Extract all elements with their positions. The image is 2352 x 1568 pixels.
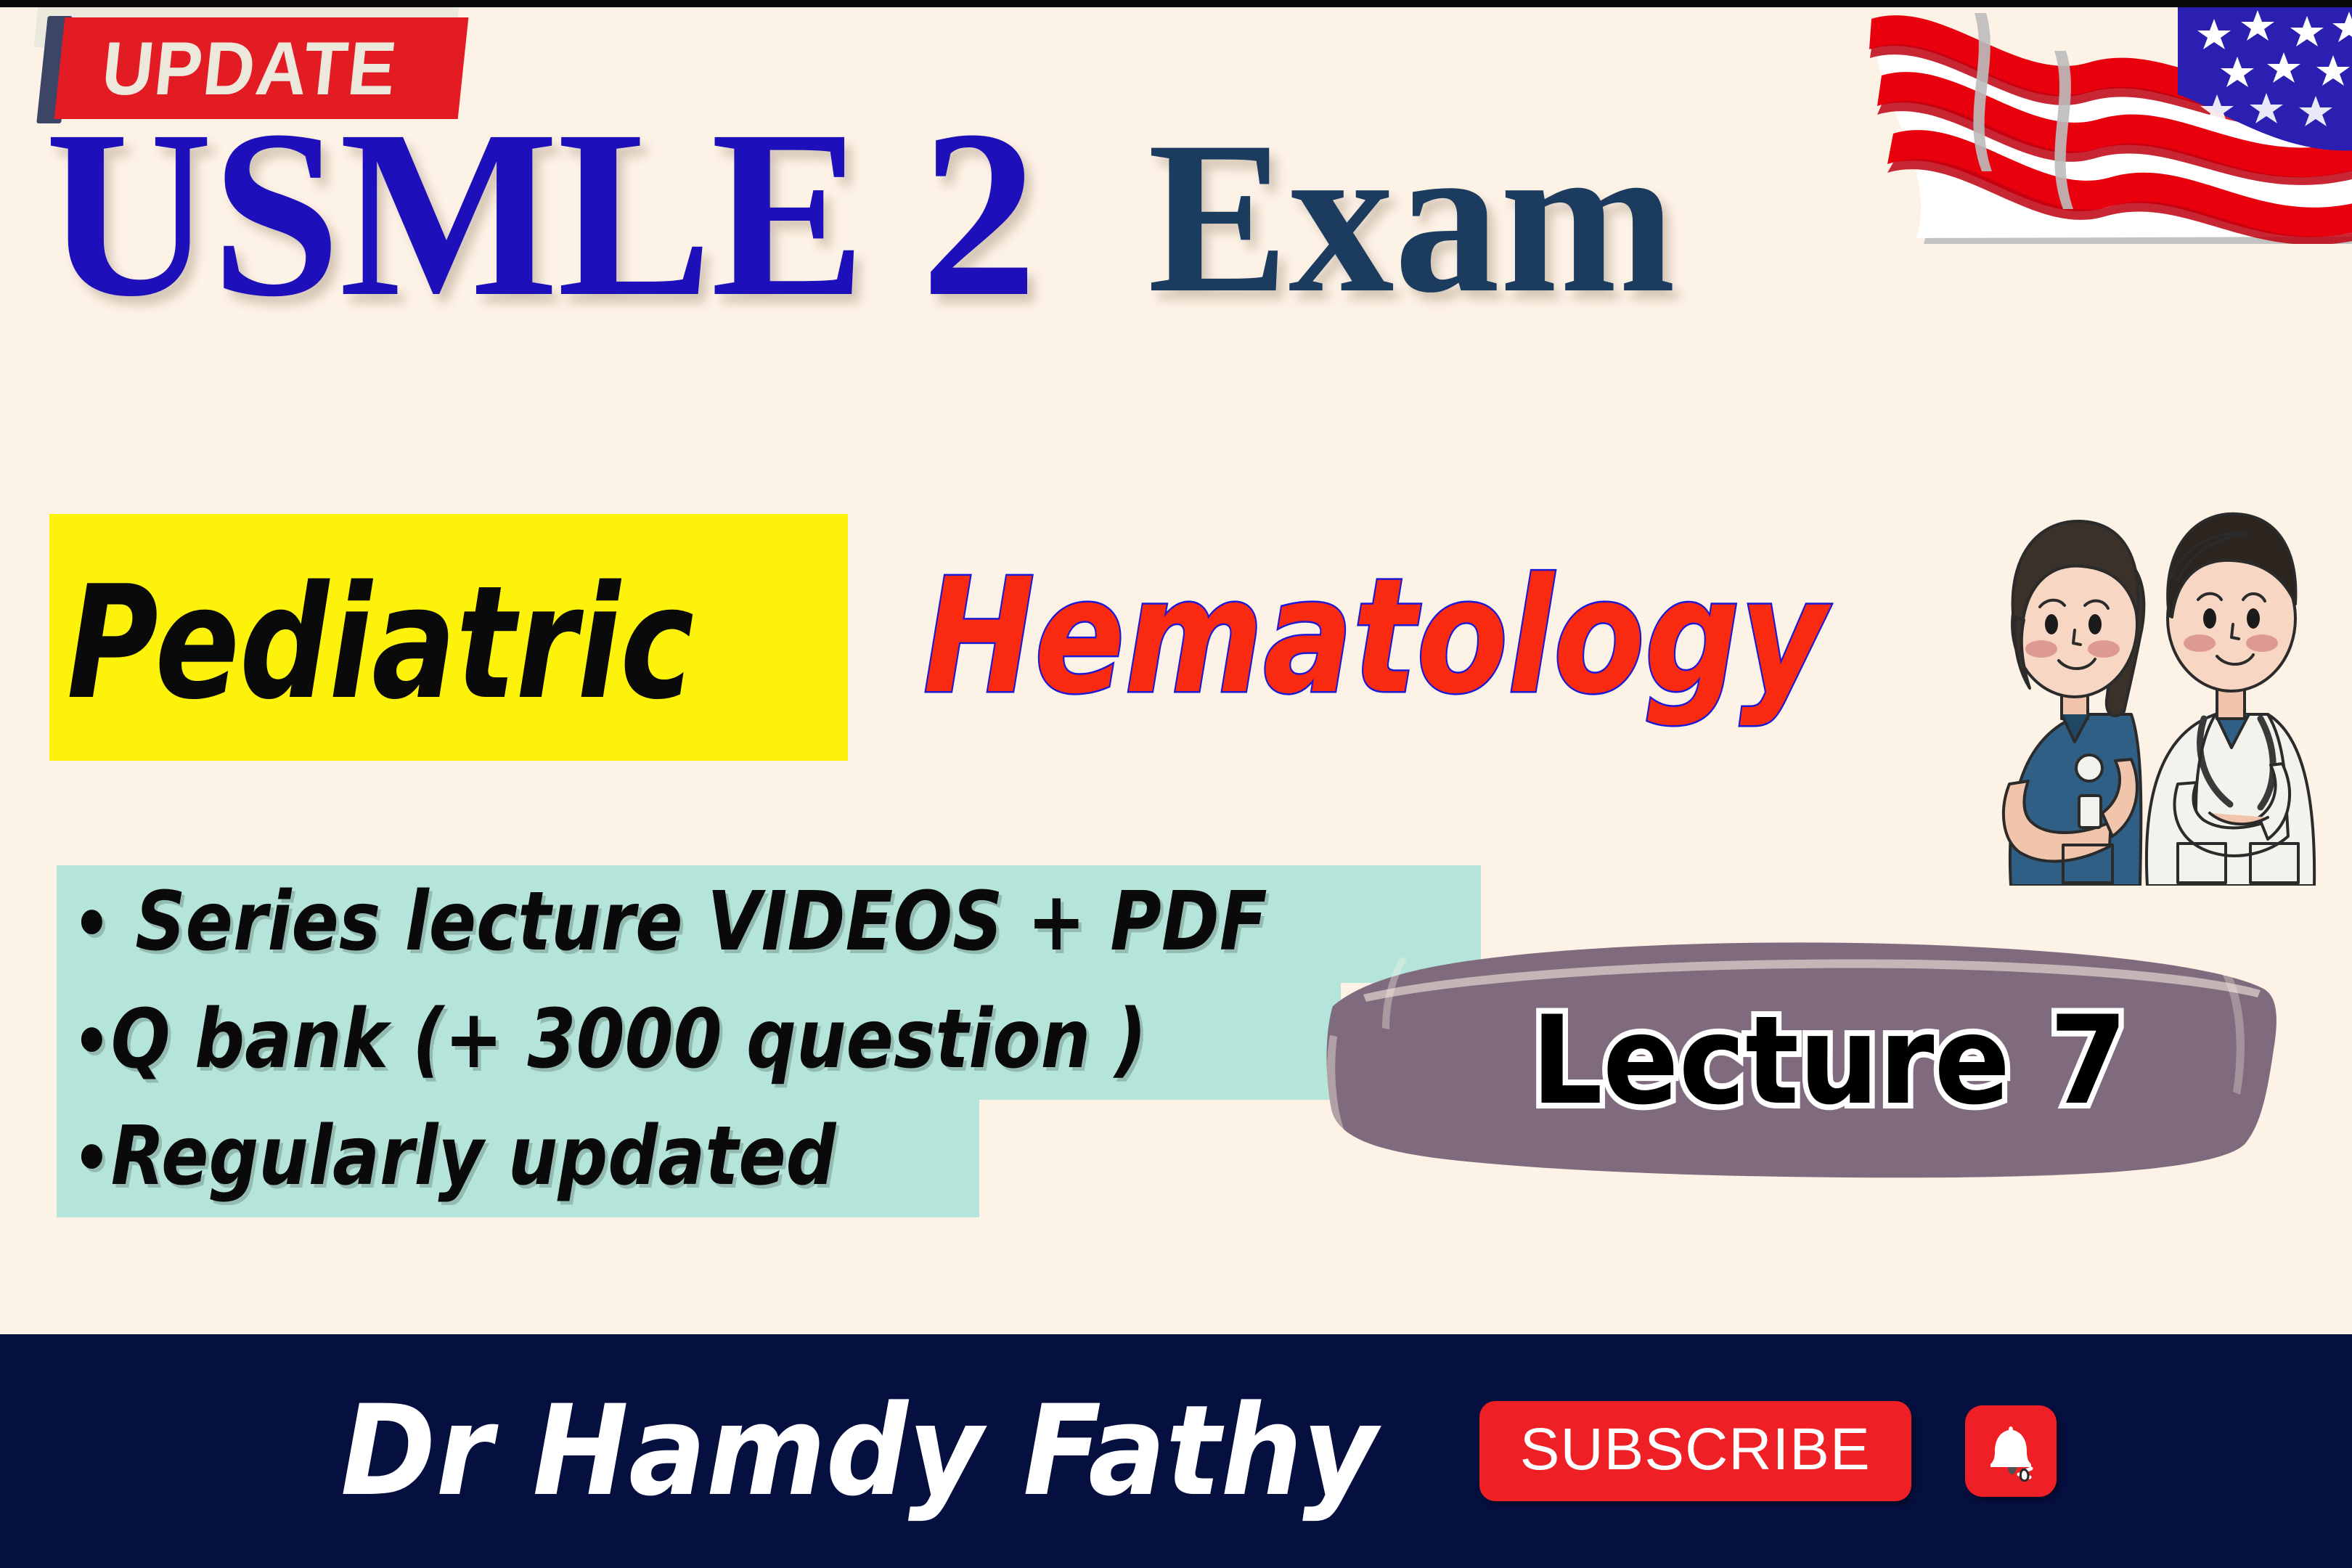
notification-bell-button[interactable]	[1965, 1405, 2057, 1497]
list-item: •Q bank (+ 3000 question )	[57, 983, 1481, 1101]
bullet-icon: •	[73, 1118, 111, 1199]
bell-icon	[1980, 1421, 2041, 1482]
list-item: •Regularly updated	[57, 1100, 1481, 1217]
list-item: • Series lecture VIDEOS + PDF	[57, 865, 1481, 983]
feature-text: Q bank (+ 3000 question )	[111, 992, 1147, 1087]
doctor-and-nurse-illustration	[1960, 407, 2352, 886]
specialty-label: Pediatric	[67, 552, 682, 733]
poster-canvas: UPDATE	[0, 0, 2352, 1568]
topic-label: Hematology	[923, 543, 1899, 732]
update-badge: UPDATE	[0, 0, 494, 127]
bullet-icon: •	[73, 1001, 111, 1082]
lecture-label: Lecture 7	[1475, 992, 2183, 1130]
main-title: USMLE 2 Exam	[45, 102, 2223, 341]
title-usmle: USMLE 2	[45, 102, 1036, 327]
footer-content: Dr Hamdy Fathy SUBSCRIBE	[0, 1334, 2352, 1568]
feature-text: Series lecture VIDEOS + PDF	[135, 875, 1267, 969]
top-black-strip	[0, 0, 2352, 7]
feature-list: • Series lecture VIDEOS + PDF •Q bank (+…	[57, 865, 1481, 1217]
subscribe-button[interactable]: SUBSCRIBE	[1479, 1401, 1911, 1501]
author-name: Dr Hamdy Fathy	[340, 1389, 1377, 1514]
feature-text: Regularly updated	[111, 1109, 836, 1204]
badge-label: UPDATE	[98, 26, 448, 112]
title-exam: Exam	[1148, 115, 1676, 319]
bullet-icon: •	[73, 883, 111, 965]
